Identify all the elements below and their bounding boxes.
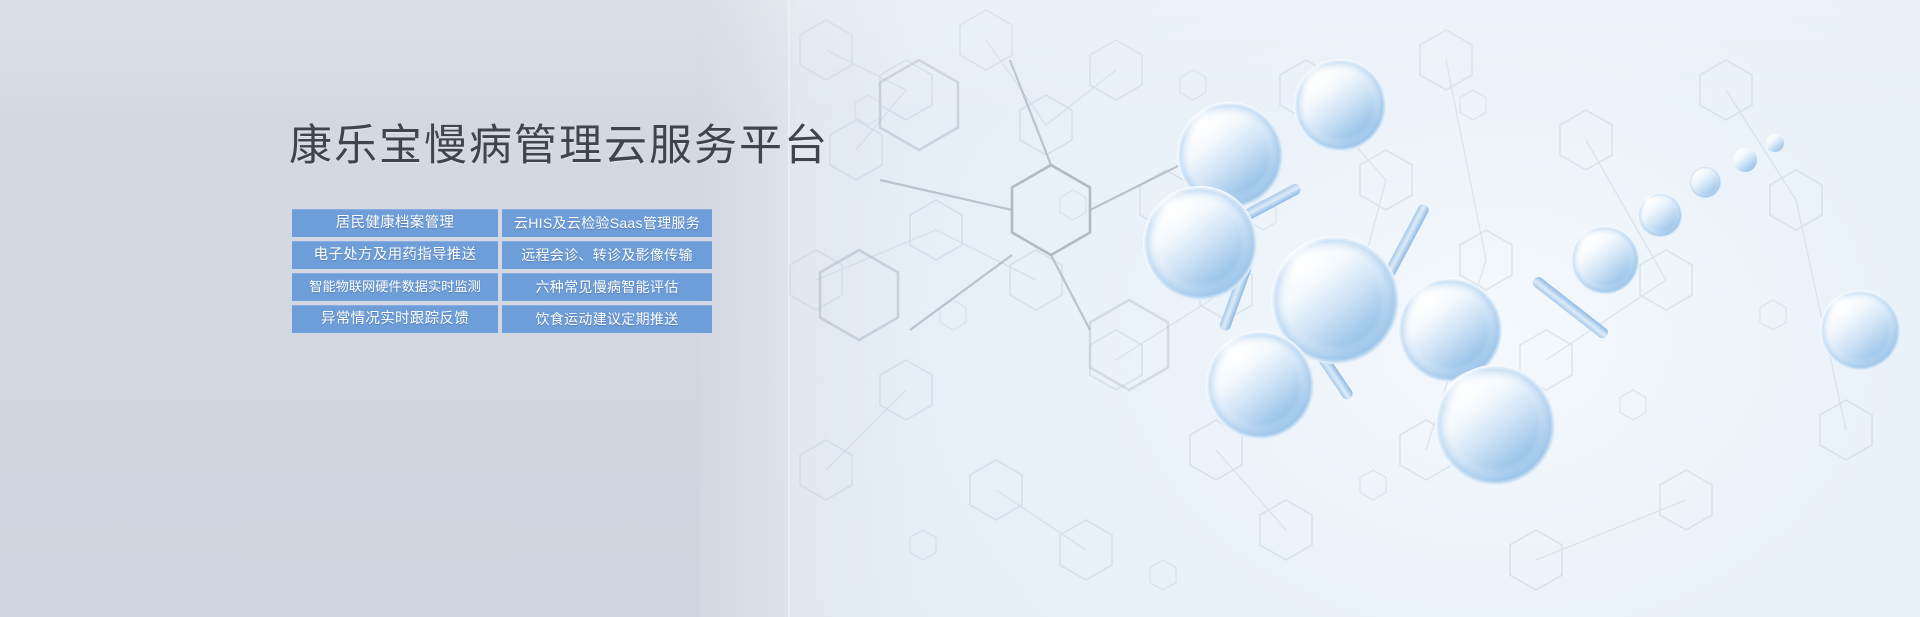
feature-item-4-left[interactable]: 异常情况实时跟踪反馈 <box>292 305 498 333</box>
hero-banner: 康乐宝慢病管理云服务平台 居民健康档案管理 云HIS及云检验Saas管理服务 电… <box>0 0 1920 617</box>
feature-grid: 居民健康档案管理 云HIS及云检验Saas管理服务 电子处方及用药指导推送 远程… <box>292 209 712 333</box>
feature-item-1-right[interactable]: 云HIS及云检验Saas管理服务 <box>502 209 712 237</box>
feature-item-1-left[interactable]: 居民健康档案管理 <box>292 209 498 237</box>
page-title: 康乐宝慢病管理云服务平台 <box>289 118 829 174</box>
feature-item-2-left[interactable]: 电子处方及用药指导推送 <box>292 241 498 269</box>
feature-item-4-right[interactable]: 饮食运动建议定期推送 <box>502 305 712 333</box>
feature-item-2-right[interactable]: 远程会诊、转诊及影像传输 <box>502 241 712 269</box>
banner-content: 康乐宝慢病管理云服务平台 居民健康档案管理 云HIS及云检验Saas管理服务 电… <box>0 0 790 617</box>
molecule-lattice-foreground <box>760 0 1920 617</box>
feature-item-3-left[interactable]: 智能物联网硬件数据实时监测 <box>292 273 498 301</box>
feature-item-3-right[interactable]: 六种常见慢病智能评估 <box>502 273 712 301</box>
